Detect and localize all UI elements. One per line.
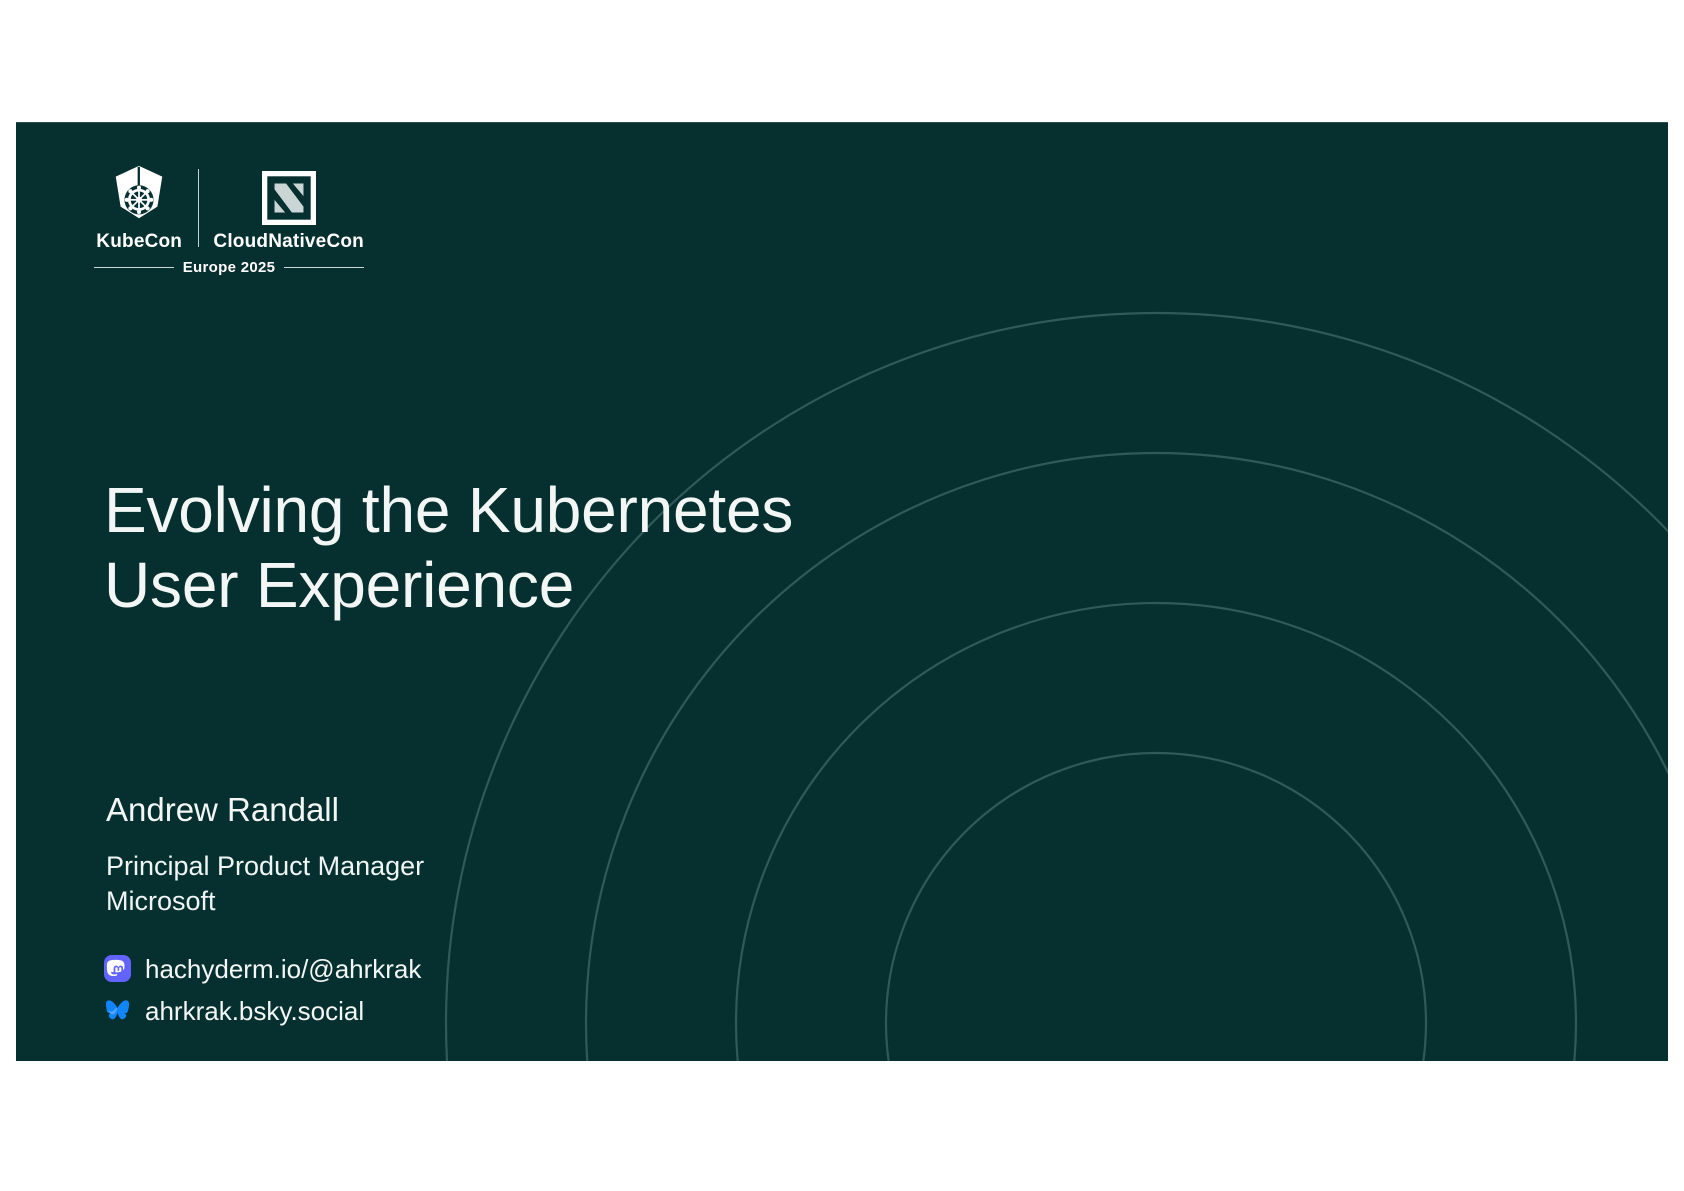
social-link-bluesky[interactable]: ahrkrak.bsky.social [104,997,421,1024]
logo-divider [198,169,199,247]
kubernetes-helm-wheel-icon [108,163,170,225]
presenter-name: Andrew Randall [106,791,726,829]
presenter-block: Andrew Randall Principal Product Manager… [106,791,726,919]
cloudnativecon-logo-block: CloudNativeCon [213,163,364,251]
bluesky-handle: ahrkrak.bsky.social [145,998,364,1024]
title-slide: KubeCon CloudNativeCon [16,122,1668,1061]
logo-rule-left [94,267,174,268]
logo-edition-label: Europe 2025 [183,260,276,275]
cloudnativecon-wordmark: CloudNativeCon [213,232,364,251]
slide-title: Evolving the Kubernetes User Experience [104,473,924,623]
kubecon-wordmark: KubeCon [96,232,182,251]
social-link-mastodon[interactable]: hachyderm.io/@ahrkrak [104,955,421,982]
cloudnativecon-square-icon [262,163,316,225]
kubecon-logo-block: KubeCon [94,163,184,251]
logo-row: KubeCon CloudNativeCon [94,163,364,251]
slide-stage: KubeCon CloudNativeCon [0,0,1684,1191]
logo-rule-right [284,267,364,268]
mastodon-icon [104,955,131,982]
logo-edition-row: Europe 2025 [94,260,364,275]
mastodon-handle: hachyderm.io/@ahrkrak [145,956,421,982]
social-links: hachyderm.io/@ahrkrak ahrkrak.bsky.socia… [104,955,421,1024]
kubecon-cloudnativecon-logo: KubeCon CloudNativeCon [94,163,364,275]
bluesky-butterfly-icon [104,997,131,1024]
presenter-role: Principal Product Manager Microsoft [106,849,726,919]
